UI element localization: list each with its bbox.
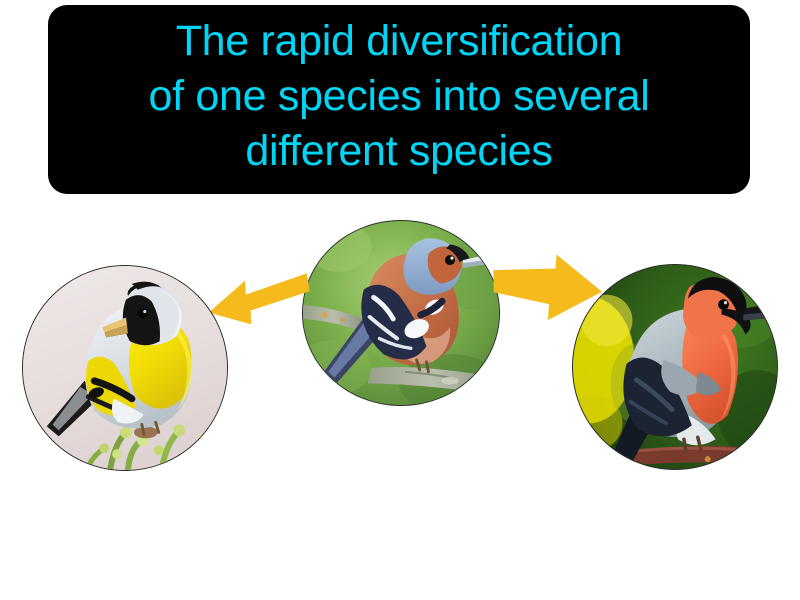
bird-photo-center-chaffinch <box>302 220 500 406</box>
definition-banner: The rapid diversification of one species… <box>48 5 750 194</box>
arrow-left-glyph <box>206 258 310 324</box>
chaffinch-illustration <box>303 221 499 405</box>
goldfinch-illustration <box>23 266 227 470</box>
bullfinch-illustration <box>573 265 777 469</box>
definition-card: The rapid diversification of one species… <box>0 0 800 600</box>
bird-photo-right-bullfinch <box>572 264 778 470</box>
bird-photo-left-goldfinch <box>22 265 228 471</box>
definition-line-2: of one species into several <box>148 69 649 124</box>
definition-line-1: The rapid diversification <box>176 14 623 69</box>
definition-line-3: different species <box>245 124 552 179</box>
arrow-left-icon <box>206 258 310 324</box>
